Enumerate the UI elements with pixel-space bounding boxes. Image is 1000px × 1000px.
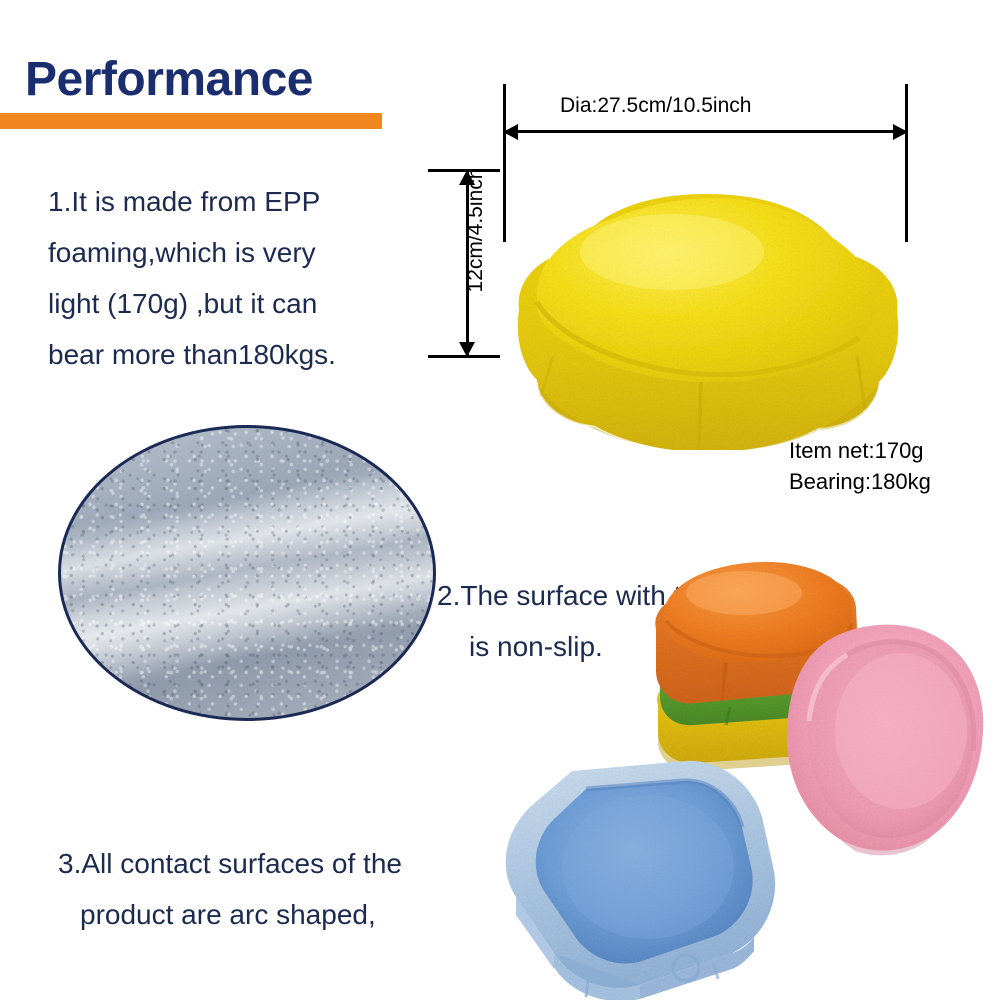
- spec-block: Item net:170g Bearing:180kg: [789, 435, 931, 497]
- feature-point-1: 1.It is made from EPP foaming,which is v…: [48, 176, 428, 380]
- feature-point-3-line-1: 3.All contact surfaces of the: [58, 848, 402, 879]
- blue-stepping-stone: [490, 755, 785, 1000]
- arrow-left-icon: [503, 124, 518, 140]
- bearing-capacity: Bearing:180kg: [789, 466, 931, 497]
- feature-point-3-line-2: product are arc shaped,: [58, 889, 528, 940]
- diameter-dimension-label: Dia:27.5cm/10.5inch: [560, 94, 751, 118]
- item-net-weight: Item net:170g: [789, 435, 931, 466]
- title-underline-bar: [0, 113, 382, 129]
- colored-stepping-stones-photo: [480, 555, 1000, 1000]
- epp-foam-texture-closeup: [58, 425, 436, 721]
- infographic-page: Performance 1.It is made from EPP foamin…: [0, 0, 1000, 1000]
- arrow-down-icon: [459, 342, 475, 357]
- arrow-right-icon: [893, 124, 908, 140]
- feature-point-3-line-3: which is very safe for children.: [58, 991, 528, 1000]
- yellow-stone-illustration: [497, 160, 917, 450]
- yellow-stepping-stone-product-photo: [497, 160, 917, 450]
- foam-grain-overlay: [61, 428, 433, 718]
- pink-stone-illustration: [775, 615, 990, 860]
- diameter-dimension-line: [506, 130, 906, 133]
- pink-stepping-stone: [775, 615, 990, 860]
- feature-point-3: 3.All contact surfaces of the product ar…: [58, 787, 528, 1000]
- arrow-up-icon: [459, 170, 475, 185]
- blue-stone-illustration: [490, 755, 785, 1000]
- page-title: Performance: [25, 52, 313, 107]
- height-dimension-line: [466, 170, 469, 356]
